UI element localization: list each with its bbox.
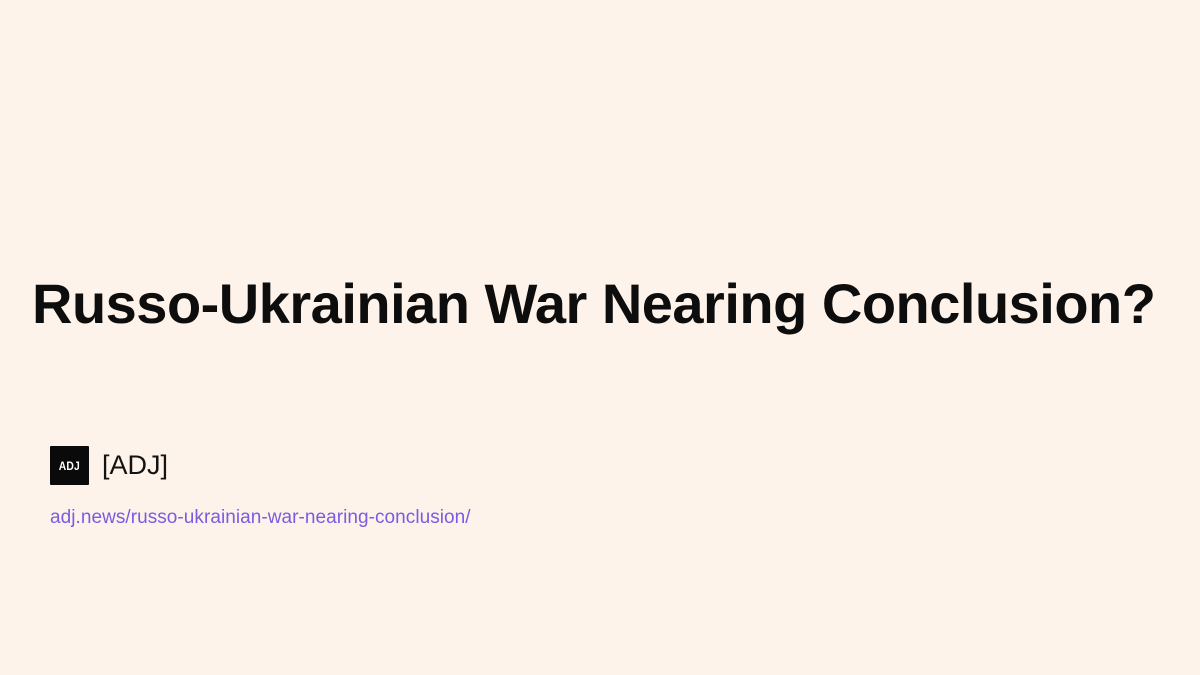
article-url-link[interactable]: adj.news/russo-ukrainian-war-nearing-con… — [50, 508, 471, 527]
page-title: Russo-Ukrainian War Nearing Conclusion? — [32, 272, 1177, 336]
adj-logo-label: ADJ — [59, 460, 80, 472]
site-name: [ADJ] — [102, 452, 168, 479]
adj-logo-icon: ADJ — [50, 446, 89, 485]
brand-row: ADJ [ADJ] — [50, 446, 168, 485]
headline-block: Russo-Ukrainian War Nearing Conclusion? — [32, 272, 1177, 336]
link-preview-card: Russo-Ukrainian War Nearing Conclusion? … — [0, 0, 1200, 675]
